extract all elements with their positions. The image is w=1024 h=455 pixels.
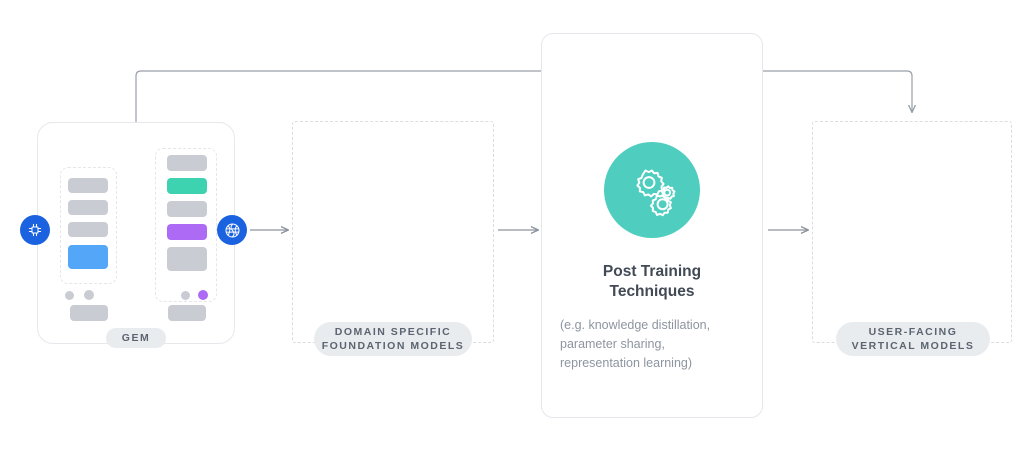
foundation-badge-line-2: FOUNDATION MODELS	[322, 339, 465, 353]
gears-icon	[604, 142, 700, 238]
gem-block-right-2-teal	[167, 178, 207, 194]
gem-badge-label: GEM	[122, 331, 150, 345]
post-training-subtitle-line-2: parameter sharing,	[560, 335, 744, 354]
gem-block-right-3	[167, 201, 207, 217]
vertical-models-panel[interactable]	[812, 121, 1012, 343]
post-training-subtitle: (e.g. knowledge distillation, parameter …	[560, 316, 744, 373]
post-training-card[interactable]: Post Training Techniques (e.g. knowledge…	[541, 33, 763, 418]
gem-block-right-1	[167, 155, 207, 171]
post-training-title-line-1: Post Training	[542, 262, 762, 282]
gem-dot-left-b	[84, 290, 94, 300]
neural-brain-icon[interactable]	[217, 215, 247, 245]
gem-dot-left-a	[65, 291, 74, 300]
cpu-chip-icon[interactable]	[20, 215, 50, 245]
gem-dot-right-a	[181, 291, 190, 300]
vertical-models-badge: USER-FACING VERTICAL MODELS	[836, 322, 990, 356]
foundation-badge-line-1: DOMAIN SPECIFIC	[335, 325, 451, 339]
gem-dot-right-purple	[198, 290, 208, 300]
post-training-subtitle-line-1: (e.g. knowledge distillation,	[560, 316, 744, 335]
post-training-title: Post Training Techniques	[542, 262, 762, 302]
gem-block-left-3	[68, 222, 108, 237]
gem-block-right-5	[167, 247, 207, 271]
foundation-models-badge: DOMAIN SPECIFIC FOUNDATION MODELS	[314, 322, 472, 356]
gem-block-left-highlight	[68, 245, 108, 269]
gem-badge: GEM	[106, 328, 166, 348]
post-training-title-line-2: Techniques	[542, 282, 762, 302]
vertical-badge-line-1: USER-FACING	[869, 325, 958, 339]
gem-block-left-2	[68, 200, 108, 215]
vertical-badge-line-2: VERTICAL MODELS	[852, 339, 975, 353]
gem-footer-block-right	[168, 305, 206, 321]
post-training-subtitle-line-3: representation learning)	[560, 354, 744, 373]
foundation-models-panel[interactable]	[292, 121, 494, 343]
gem-footer-block-left	[70, 305, 108, 321]
gem-block-right-4-purple	[167, 224, 207, 240]
diagram-canvas: GEM	[0, 0, 1024, 455]
gem-block-left-1	[68, 178, 108, 193]
